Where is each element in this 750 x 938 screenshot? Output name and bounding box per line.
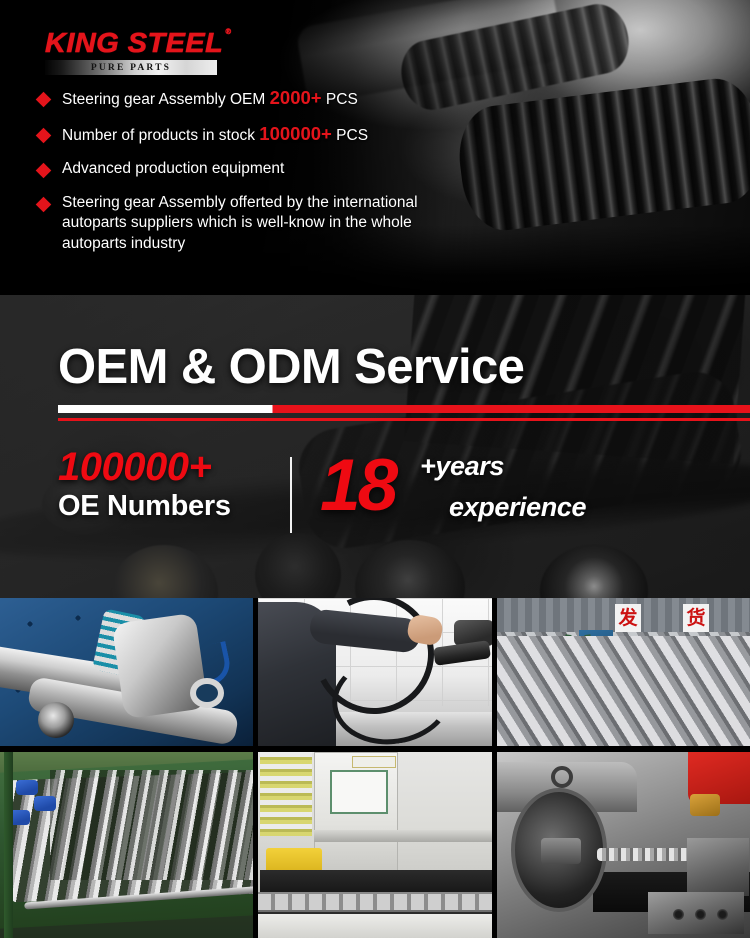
list-item: Number of products in stock 100000+ PCS	[38, 124, 498, 147]
hero-section: KING STEEL ® PURE PARTS Steering gear As…	[0, 0, 750, 295]
tray-hole-graphic	[717, 909, 728, 920]
stat-oe-label: OE Numbers	[58, 489, 290, 524]
stat-experience-label-line1: +years	[420, 451, 504, 481]
warehouse-sign-char-2: 货	[683, 604, 709, 632]
diamond-bullet-icon	[36, 127, 52, 143]
bullet-text-before: Number of products in stock	[62, 127, 255, 144]
photo-image	[258, 598, 492, 746]
warehouse-sign-char-1: 发	[615, 604, 641, 632]
shaft-row-graphic	[50, 770, 253, 880]
page-title: OEM & ODM Service	[58, 343, 524, 392]
photo-cell-cnc-lathe[interactable]	[497, 752, 750, 938]
photo-cell-steering-rack-bench[interactable]	[0, 598, 253, 746]
bullet-text: Number of products in stock 100000+ PCS	[62, 124, 368, 147]
machine-base-graphic	[258, 912, 492, 938]
title-divider-thick	[58, 405, 750, 413]
factory-photo-grid: 发 货	[0, 598, 750, 938]
tie-rod-ring-graphic	[190, 678, 224, 708]
control-panel-graphic	[260, 752, 312, 836]
housing-stack-lower-graphic	[497, 636, 750, 746]
stat-experience: 18 +years experience	[314, 445, 718, 545]
stat-experience-label-line2: experience	[449, 492, 586, 522]
bullet-highlight-value: 2000+	[270, 87, 322, 108]
title-divider-thin	[58, 418, 750, 421]
photo-image	[0, 598, 253, 746]
stats-row: 100000+ OE Numbers 18 +years experience	[58, 445, 718, 545]
bullet-highlight-value: 100000+	[259, 123, 332, 144]
brand-name-text: KING STEEL	[45, 27, 223, 58]
table-frame-graphic	[4, 752, 13, 938]
machine-label-graphic	[352, 756, 396, 768]
brand-logo[interactable]: KING STEEL ® PURE PARTS	[45, 28, 217, 75]
brand-tagline: PURE PARTS	[91, 63, 171, 73]
blue-knob-graphic	[34, 796, 56, 811]
roller-conveyor-graphic	[258, 892, 492, 912]
chuck-jaw-graphic	[541, 838, 581, 864]
diamond-bullet-icon	[36, 92, 52, 108]
photo-cell-warehouse-stock[interactable]: 发 货	[497, 598, 750, 746]
photo-cell-racks-green-table[interactable]	[0, 752, 253, 938]
brass-fitting-graphic	[690, 794, 720, 816]
tray-hole-graphic	[673, 909, 684, 920]
tailstock-graphic	[687, 838, 749, 896]
brand-tagline-bar: PURE PARTS	[45, 60, 217, 75]
bullet-text: Steering gear Assembly offerted by the i…	[62, 193, 452, 255]
photo-image	[258, 752, 492, 938]
machine-rail-graphic	[314, 830, 492, 842]
diamond-bullet-icon	[36, 163, 52, 179]
bullet-text-after: PCS	[336, 127, 368, 144]
pinion-hub-graphic	[38, 702, 74, 738]
stat-oe-value: 100000+	[58, 445, 290, 489]
bullet-text: Advanced production equipment	[62, 159, 284, 180]
bullet-text-before: Steering gear Assembly OEM	[62, 91, 265, 108]
list-item: Steering gear Assembly OEM 2000+ PCS	[38, 88, 498, 111]
feature-bullet-list: Steering gear Assembly OEM 2000+ PCS Num…	[38, 88, 498, 254]
tray-hole-graphic	[695, 909, 706, 920]
photo-cell-testing-machine[interactable]	[258, 752, 492, 938]
stats-vertical-divider	[290, 457, 292, 533]
stat-experience-value: 18	[320, 449, 395, 522]
photo-cell-technician-testing[interactable]	[258, 598, 492, 746]
lifting-ring-icon	[551, 766, 573, 788]
product-banner: KING STEEL ® PURE PARTS Steering gear As…	[0, 0, 750, 938]
stat-oe-numbers: 100000+ OE Numbers	[58, 445, 290, 545]
photo-image	[497, 752, 750, 938]
machine-display-graphic	[330, 770, 388, 814]
blue-knob-graphic	[16, 780, 38, 795]
list-item: Steering gear Assembly offerted by the i…	[38, 193, 498, 255]
brand-name: KING STEEL ®	[45, 28, 222, 57]
photo-image: 发 货	[497, 598, 750, 746]
photo-image	[0, 752, 253, 938]
registered-trademark-icon: ®	[226, 29, 232, 36]
bullet-text: Steering gear Assembly OEM 2000+ PCS	[62, 88, 358, 111]
list-item: Advanced production equipment	[38, 159, 498, 180]
bullet-text-after: PCS	[326, 91, 358, 108]
diamond-bullet-icon	[36, 196, 52, 212]
